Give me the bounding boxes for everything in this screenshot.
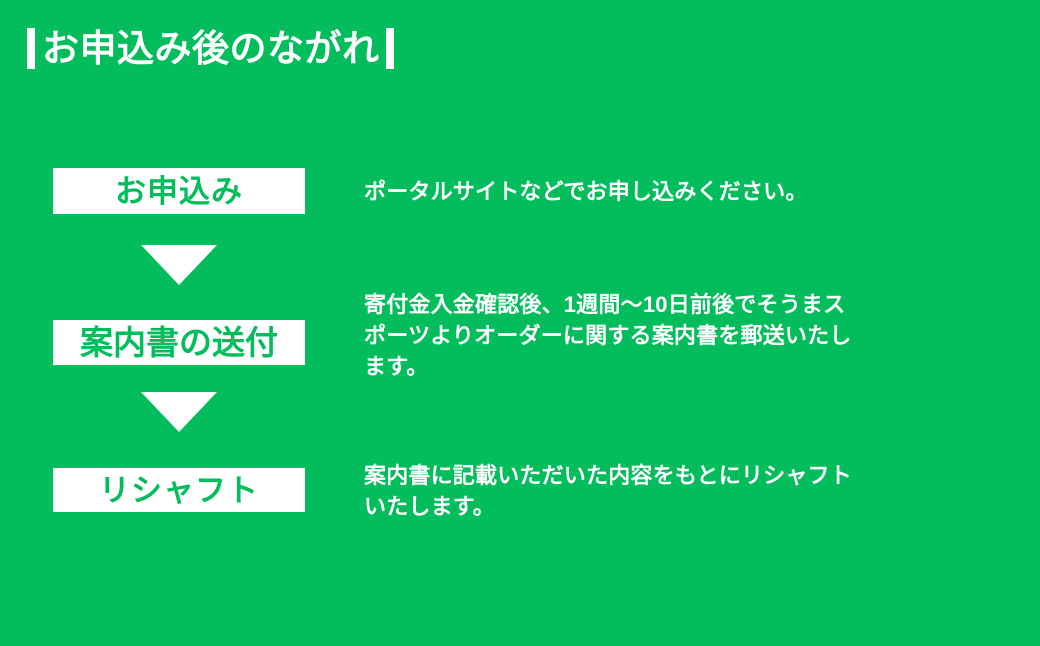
title-right-rule-icon [386,28,394,69]
spacer [53,285,305,320]
title-left-rule-icon [27,28,35,69]
step-label-reshaft: リシャフト [99,475,259,506]
step-label-application: お申込み [115,176,243,207]
step-box-application: お申込み [53,168,305,214]
step-description-guide-dispatch: 寄付金入金確認後、1週間〜10日前後でそうまス ポーツよりオーダーに関する案内書… [364,289,852,383]
page-title-text: お申込み後のながれ [35,30,386,67]
step-description-application: ポータルサイトなどでお申し込みください。 [364,176,808,207]
step-box-reshaft: リシャフト [53,468,305,512]
triangle-down-icon [141,392,217,432]
spacer [53,214,305,245]
flow-diagram: お申込み 案内書の送付 リシャフト [53,168,305,512]
spacer [53,365,305,392]
step-label-guide-dispatch: 案内書の送付 [80,326,278,359]
step-box-guide-dispatch: 案内書の送付 [53,320,305,365]
triangle-down-icon [141,245,217,285]
step-description-reshaft: 案内書に記載いただいた内容をもとにリシャフト いたします。 [364,460,852,522]
spacer [53,432,305,468]
page-title: お申込み後のながれ [27,22,394,74]
